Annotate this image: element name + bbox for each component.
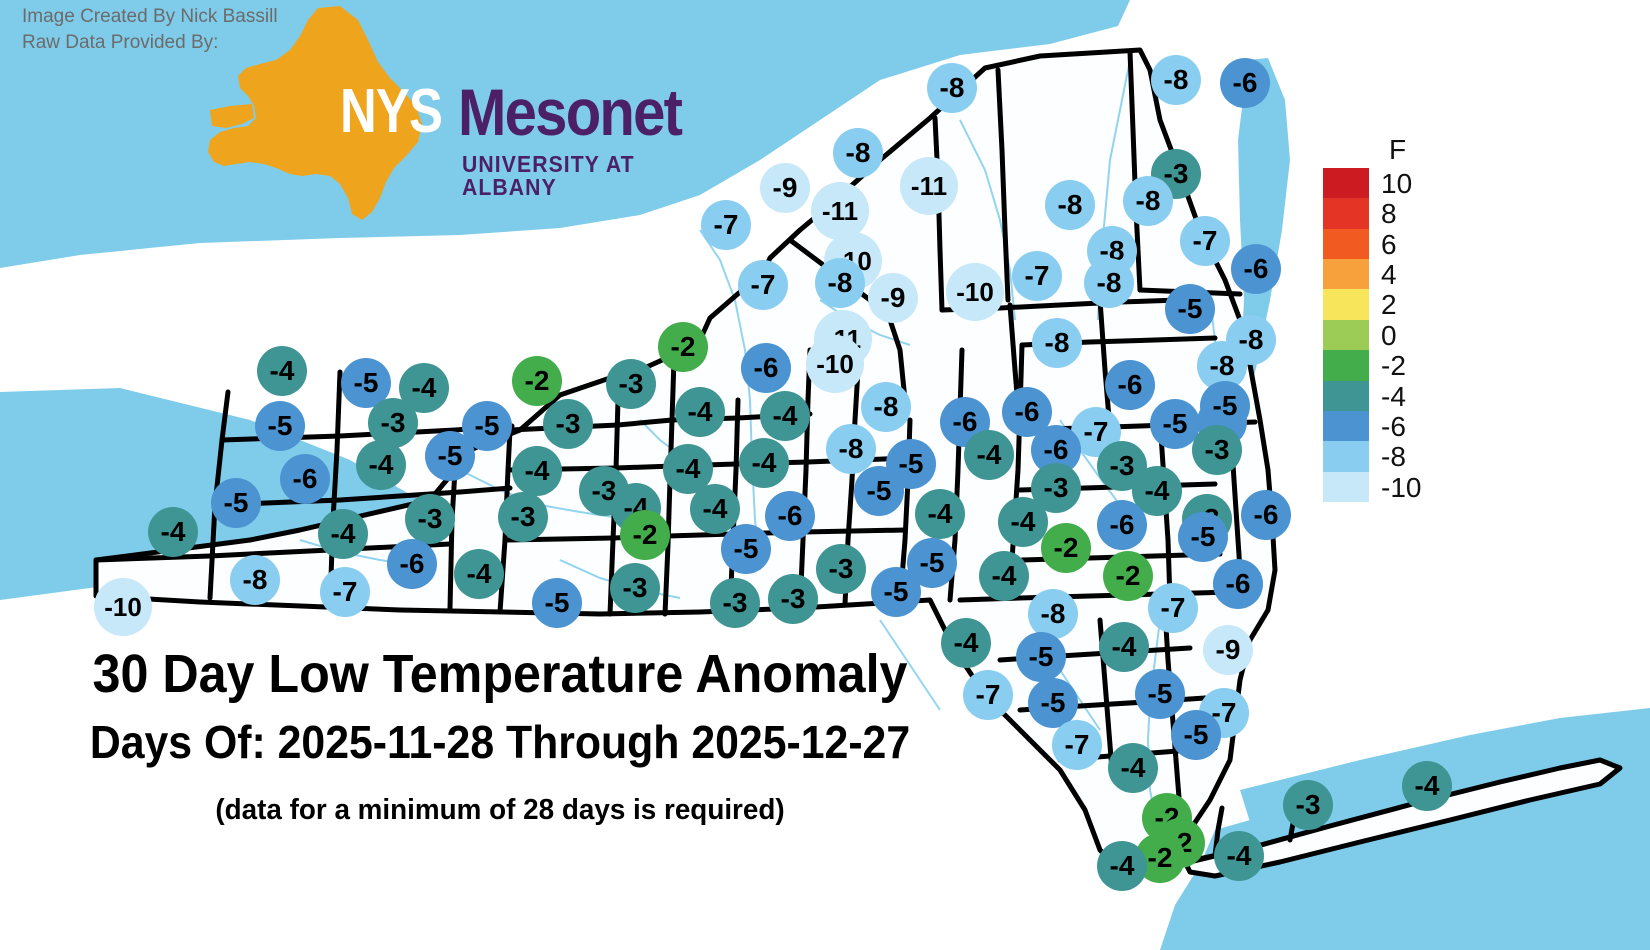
station-marker[interactable]: -9 [1203, 625, 1253, 675]
station-marker[interactable]: -4 [739, 438, 789, 488]
logo-university-text: UNIVERSITY AT ALBANY [462, 153, 644, 199]
station-marker[interactable]: -5 [425, 431, 475, 481]
map-visualization: Image Created By Nick Bassill Raw Data P… [0, 0, 1650, 950]
colorbar-swatch [1323, 350, 1369, 380]
data-requirement-note: (data for a minimum of 28 days is requir… [20, 793, 980, 827]
station-marker[interactable]: -4 [1097, 841, 1147, 891]
colorbar-tick-label: -4 [1381, 381, 1406, 413]
colorbar-swatch [1323, 441, 1369, 471]
station-marker[interactable]: -5 [871, 567, 921, 617]
station-marker[interactable]: -3 [606, 359, 656, 409]
station-marker[interactable]: -4 [454, 549, 504, 599]
colorbar-swatch [1323, 198, 1369, 228]
colorbar-tick-label: 2 [1381, 289, 1397, 321]
station-marker[interactable]: -8 [927, 63, 977, 113]
station-marker[interactable]: -3 [768, 574, 818, 624]
logo-nys-text: NYS [340, 81, 442, 143]
station-marker[interactable]: -4 [512, 446, 562, 496]
station-marker[interactable]: -8 [833, 128, 883, 178]
station-marker[interactable]: -6 [1231, 244, 1281, 294]
station-marker[interactable]: -4 [257, 346, 307, 396]
colorbar-swatch [1323, 229, 1369, 259]
station-marker[interactable]: -5 [211, 478, 261, 528]
station-marker[interactable]: -9 [868, 273, 918, 323]
station-marker[interactable]: -5 [1135, 669, 1185, 719]
colorbar-tick-label: -10 [1381, 472, 1421, 504]
station-marker[interactable]: -3 [405, 494, 455, 544]
station-marker[interactable]: -3 [1283, 780, 1333, 830]
colorbar-swatch [1323, 320, 1369, 350]
colorbar-swatch [1323, 259, 1369, 289]
station-marker[interactable]: -7 [701, 200, 751, 250]
station-marker[interactable]: -6 [741, 343, 791, 393]
station-marker[interactable]: -6 [1105, 360, 1155, 410]
colorbar-tick-label: 8 [1381, 198, 1397, 230]
station-marker[interactable]: -4 [998, 497, 1048, 547]
station-marker[interactable]: -5 [1200, 381, 1250, 431]
mesonet-wordmark: NYS Mesonet UNIVERSITY AT ALBANY [340, 81, 660, 201]
colorbar-tick-label: 4 [1381, 259, 1397, 291]
station-marker[interactable]: -10 [806, 335, 864, 393]
date-range-subtitle: Days Of: 2025-11-28 Through 2025-12-27 [35, 717, 965, 767]
station-marker[interactable]: -11 [900, 157, 958, 215]
station-marker[interactable]: -5 [1016, 632, 1066, 682]
station-marker[interactable]: -11 [811, 182, 869, 240]
station-marker[interactable]: -4 [964, 430, 1014, 480]
title-block: 30 Day Low Temperature Anomaly Days Of: … [0, 645, 1000, 827]
station-marker[interactable]: -7 [320, 567, 370, 617]
station-marker[interactable]: -6 [280, 454, 330, 504]
station-marker[interactable]: -7 [1148, 583, 1198, 633]
station-marker[interactable]: -4 [1402, 761, 1452, 811]
station-marker[interactable]: -4 [148, 507, 198, 557]
station-marker[interactable]: -5 [1178, 512, 1228, 562]
nys-mesonet-logo: NYS Mesonet UNIVERSITY AT ALBANY [190, 6, 660, 221]
page-title: 30 Day Low Temperature Anomaly [35, 645, 965, 703]
station-marker[interactable]: -5 [255, 401, 305, 451]
station-marker[interactable]: -7 [1052, 720, 1102, 770]
station-marker[interactable]: -5 [1165, 284, 1215, 334]
station-marker[interactable]: -7 [1012, 251, 1062, 301]
station-marker[interactable]: -4 [760, 391, 810, 441]
colorbar-swatch [1323, 411, 1369, 441]
station-marker[interactable]: -4 [979, 551, 1029, 601]
station-marker[interactable]: -5 [854, 466, 904, 516]
colorbar-unit-label: F [1389, 134, 1406, 166]
station-marker[interactable]: -8 [861, 382, 911, 432]
station-marker[interactable]: -3 [610, 563, 660, 613]
station-marker[interactable]: -3 [710, 578, 760, 628]
colorbar-tick-label: 6 [1381, 229, 1397, 261]
station-marker[interactable]: -8 [1045, 180, 1095, 230]
station-marker[interactable]: -8 [826, 424, 876, 474]
station-marker[interactable]: -3 [816, 544, 866, 594]
colorbar-swatch [1323, 381, 1369, 411]
station-marker[interactable]: -3 [1192, 425, 1242, 475]
station-marker[interactable]: -8 [1123, 176, 1173, 226]
logo-mesonet-text: Mesonet [458, 79, 681, 145]
station-marker[interactable]: -4 [1099, 622, 1149, 672]
station-marker[interactable]: -3 [498, 492, 548, 542]
station-marker[interactable]: -3 [543, 399, 593, 449]
colorbar-swatch [1323, 472, 1369, 502]
station-marker[interactable]: -5 [1171, 710, 1221, 760]
station-marker[interactable]: -2 [620, 510, 670, 560]
station-marker[interactable]: -7 [738, 260, 788, 310]
colorbar-swatch [1323, 289, 1369, 319]
station-marker[interactable]: -6 [765, 491, 815, 541]
colorbar-tick-label: 0 [1381, 320, 1397, 352]
station-marker[interactable]: -5 [532, 578, 582, 628]
station-marker[interactable]: -8 [1151, 55, 1201, 105]
station-marker[interactable]: -7 [1180, 216, 1230, 266]
station-marker[interactable]: -4 [675, 387, 725, 437]
station-marker[interactable]: -6 [1213, 559, 1263, 609]
colorbar-tick-label: -2 [1381, 350, 1406, 382]
station-marker[interactable]: -2 [658, 322, 708, 372]
station-marker[interactable]: -6 [1097, 500, 1147, 550]
station-marker[interactable]: -4 [915, 489, 965, 539]
station-marker[interactable]: -9 [760, 163, 810, 213]
station-marker[interactable]: -4 [1214, 831, 1264, 881]
station-marker[interactable]: -8 [1084, 258, 1134, 308]
station-marker[interactable]: -5 [721, 524, 771, 574]
station-marker[interactable]: -10 [946, 263, 1004, 321]
station-marker[interactable]: -2 [1103, 551, 1153, 601]
colorbar-swatch [1323, 168, 1369, 198]
colorbar-tick-label: 10 [1381, 168, 1412, 200]
station-marker[interactable]: -6 [1241, 490, 1291, 540]
station-marker[interactable]: -8 [230, 555, 280, 605]
station-marker[interactable]: -4 [356, 440, 406, 490]
station-marker[interactable]: -8 [1032, 318, 1082, 368]
station-marker[interactable]: -8 [815, 258, 865, 308]
station-marker[interactable]: -4 [318, 509, 368, 559]
station-marker[interactable]: -10 [94, 578, 152, 636]
station-marker[interactable]: -4 [1108, 743, 1158, 793]
station-marker[interactable]: -6 [387, 539, 437, 589]
station-marker[interactable]: -2 [512, 356, 562, 406]
colorbar [1323, 168, 1369, 502]
station-marker[interactable]: -2 [1041, 523, 1091, 573]
colorbar-tick-label: -6 [1381, 411, 1406, 443]
station-marker[interactable]: -6 [1220, 58, 1270, 108]
colorbar-tick-label: -8 [1381, 441, 1406, 473]
